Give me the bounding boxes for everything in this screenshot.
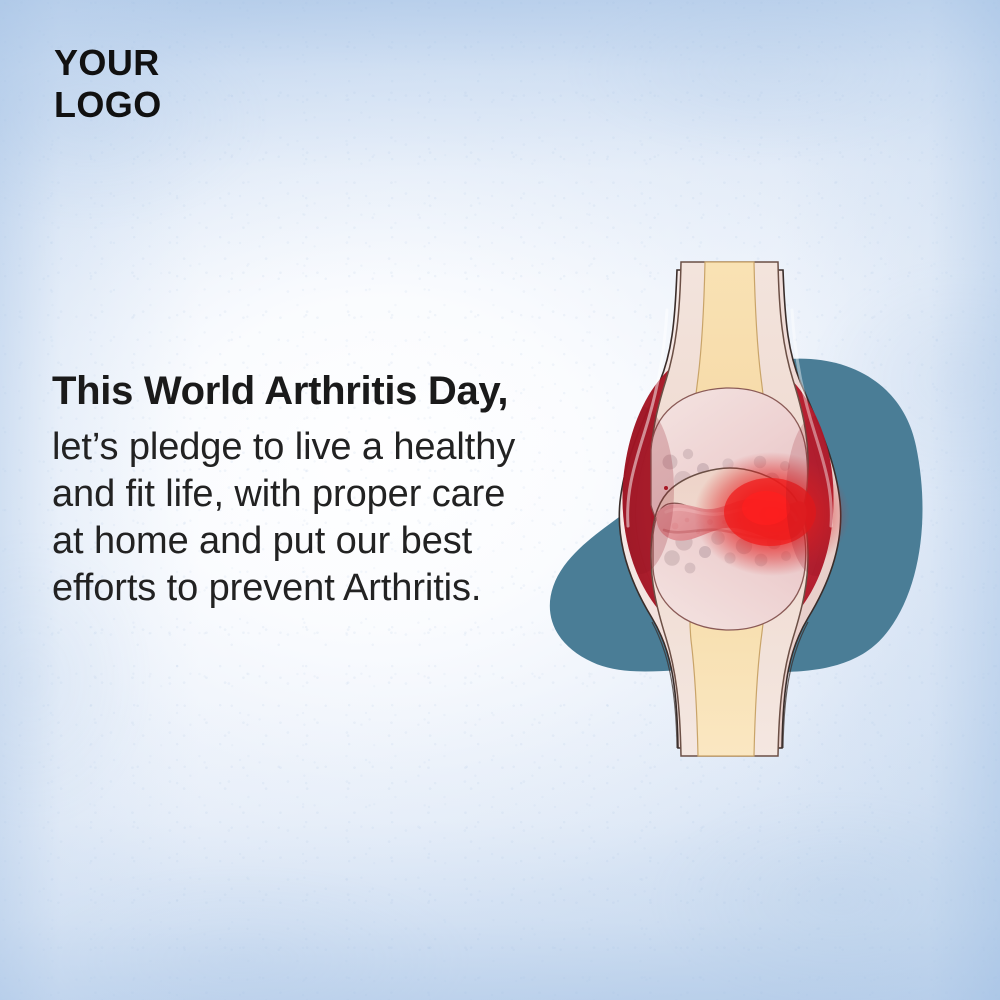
inflammation-center [742, 491, 790, 525]
knee-joint-illustration [520, 250, 940, 770]
logo-line-2: LOGO [54, 84, 162, 126]
poster-canvas: YOUR LOGO This World Arthritis Day, let’… [0, 0, 1000, 1000]
logo-line-1: YOUR [54, 42, 162, 84]
logo-placeholder: YOUR LOGO [54, 42, 162, 126]
knee-joint-svg [520, 250, 940, 770]
